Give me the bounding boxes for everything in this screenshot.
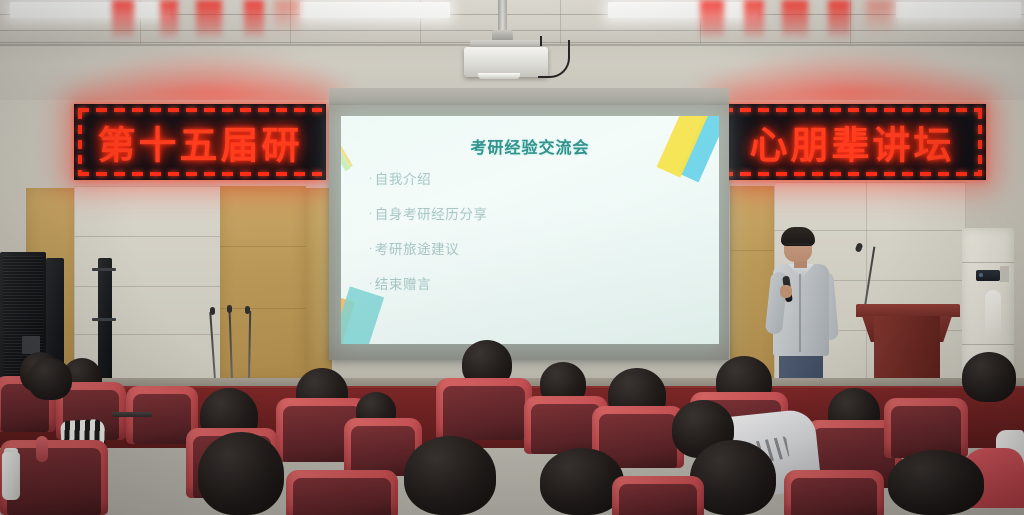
slide-bullet-item: ·自我介绍 [369,168,488,188]
auditorium-seat [436,378,532,440]
speaker-shirt-placket [799,274,801,352]
seat-armrest [36,436,48,462]
ac-power-indicator [979,273,983,277]
microphone-head [210,307,215,315]
auditorium-seat [612,476,704,515]
led-banner-left: 第十五届研 [74,104,326,180]
slide-bullet-item: ·结束赠言 [369,273,488,293]
glasses-icon [785,243,810,249]
water-bottle [2,452,20,500]
auditorium-seat [784,470,884,515]
slide-title: 考研经验交流会 [341,134,719,158]
auditorium-photo: 第十五届研 心朋辈讲坛 考研经验交流会 ·自我介绍 ·自身考研经历分享 ·考研旅… [0,0,1024,515]
projector-mount-pole [498,0,507,34]
bullet-marker: · [369,209,373,220]
slide-bullet-item: ·考研旅途建议 [369,238,488,258]
ceiling-light-panel [608,2,758,18]
bullet-text: 考研旅途建议 [375,242,460,258]
projector-lens [478,73,520,79]
wall-wood-panel [220,186,306,382]
seat-writing-tray [112,412,152,417]
led-banner-right-text: 心朋辈讲坛 [718,115,986,170]
auditorium-seat [286,470,398,515]
ac-air-vent [985,290,1001,340]
auditorium-seat [884,398,968,458]
presentation-slide: 考研经验交流会 ·自我介绍 ·自身考研经历分享 ·考研旅途建议 ·结束赠言 [341,116,719,344]
ceiling-light-panel [896,2,1021,18]
microphone-head [245,306,250,314]
bullet-marker: · [369,174,373,185]
ac-brand-label [1000,266,1009,282]
audience-head [198,432,284,515]
audience-head [962,352,1016,402]
bullet-text: 自我介绍 [375,172,431,188]
bullet-text: 自身考研经历分享 [375,207,488,223]
wall-cream-panel [74,186,222,382]
ceiling-light-panel [10,2,170,18]
bullet-text: 结束赠言 [375,277,431,293]
slide-bullet-item: ·自身考研经历分享 [369,203,488,223]
slide-bullet-list: ·自我介绍 ·自身考研经历分享 ·考研旅途建议 ·结束赠言 [369,168,488,308]
bullet-marker: · [369,244,373,255]
audience-head [404,436,496,515]
microphone-head [227,305,232,313]
led-banner-left-text: 第十五届研 [74,115,326,170]
ceiling-light-panel [300,2,450,18]
speaker-hand [780,285,792,298]
led-banner-right: 心朋辈讲坛 [718,104,986,180]
bullet-marker: · [369,279,373,290]
audience-head [888,450,984,515]
audience-head [28,358,72,400]
